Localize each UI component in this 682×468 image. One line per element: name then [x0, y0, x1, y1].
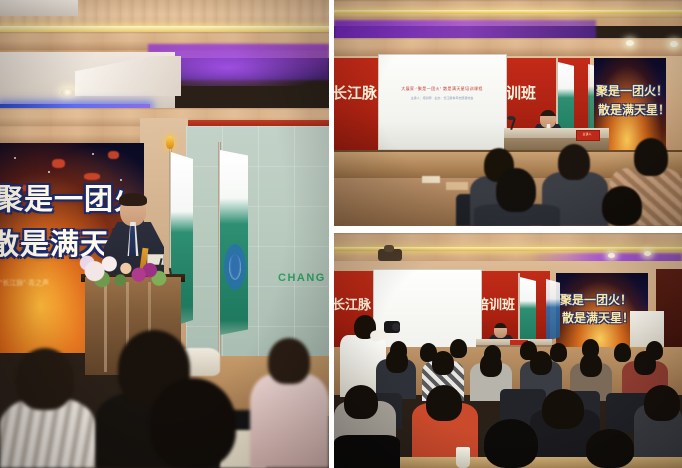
- br-aud-near-1: [334, 435, 400, 468]
- br-downlight-1-icon: [608, 253, 615, 258]
- br-projector-mount: [384, 245, 394, 252]
- banner-line-1: 聚是一团火！: [0, 183, 124, 217]
- photo-bottom-right-room[interactable]: 长江脉 培训班 聚是一团火！ 散是满天星！: [334, 233, 682, 468]
- tr-audience-2-head: [496, 168, 536, 212]
- wall-tile-grid: [186, 126, 329, 370]
- audience-4-head: [268, 338, 310, 384]
- br-aud-r2-4: [530, 351, 552, 375]
- tr-screen-title: 大展家·“聚是一团火” 散是满天星培训课程: [390, 86, 494, 95]
- flag-finial-icon: [166, 136, 174, 149]
- br-aud-r2-1: [386, 349, 408, 373]
- br-aud-r3-1: [344, 385, 378, 419]
- br-aud-r2-5: [580, 353, 602, 377]
- br-downlight-2-icon: [644, 251, 651, 256]
- tr-screen-subtitle: 主讲人：培训师 · 主办：长江脉青年志愿者协会: [390, 96, 494, 103]
- audience-3-head: [150, 378, 236, 468]
- tr-name-plate-text: 主讲人: [577, 131, 597, 138]
- br-aud-r3-4: [644, 385, 680, 421]
- podium-groove-1: [104, 282, 107, 372]
- collage-gutter-horizontal: [334, 226, 682, 233]
- paper-cup: [456, 447, 470, 468]
- br-aud-r1-6: [550, 343, 567, 362]
- tr-fire-banner-line-2: 散是满天星！: [598, 103, 668, 118]
- br-aud-r1-8: [614, 343, 631, 362]
- br-aud-r2-6: [634, 351, 656, 375]
- tr-downlight-2-icon: [670, 41, 678, 47]
- collage-column-right: 长江脉 培训班 大展家·“聚是一团火” 散是满天星培训课程 主讲人：培训师 · …: [334, 0, 682, 468]
- collage-column-left: CHANG 聚是一团火！ 散是满天星 “长江脉”·青之声: [0, 0, 329, 468]
- photo-left-speaker[interactable]: CHANG 聚是一团火！ 散是满天星 “长江脉”·青之声: [0, 0, 329, 468]
- br-aud-r1-3: [450, 339, 467, 358]
- tr-red-banner-text-left: 长江脉: [334, 85, 380, 103]
- br-desk-front: [396, 457, 682, 468]
- br-flag-white-blue: [546, 279, 560, 341]
- br-lecturer-head: [494, 323, 507, 338]
- br-aud-r2-3: [480, 353, 502, 377]
- tr-paper-2: [446, 182, 468, 190]
- flag-white-green-2: [220, 150, 248, 335]
- audience-1-head: [16, 348, 74, 410]
- br-flag-pole: [518, 273, 520, 341]
- br-aud-r2-2: [432, 351, 454, 375]
- ceiling-beam-white: [0, 0, 78, 16]
- purple-glow: [160, 40, 329, 86]
- br-fire-banner-line-1: 聚是一团火！: [560, 293, 646, 308]
- flag-emblem-inner: [229, 252, 241, 280]
- downlight-icon: [61, 88, 74, 97]
- br-aud-near-2: [484, 419, 538, 468]
- photo-top-right-lecture[interactable]: 长江脉 培训班 大展家·“聚是一团火” 散是满天星培训课程 主讲人：培训师 · …: [334, 0, 682, 226]
- flower-arrangement: [78, 245, 170, 290]
- br-aud-r3-3: [542, 389, 584, 429]
- br-flag-white-green: [520, 277, 536, 343]
- tr-paper-1: [422, 176, 440, 183]
- tr-audience-3-head: [558, 144, 590, 180]
- tr-fire-banner-line-1: 聚是一团火！: [596, 84, 666, 99]
- camera-lens-icon: [392, 323, 400, 331]
- tr-yellow-led-strip-icon: [334, 10, 682, 14]
- tr-microphone-head: [507, 116, 515, 120]
- br-aud-near-3: [586, 429, 634, 468]
- br-aud-r3-2: [426, 385, 462, 421]
- photo-collage: CHANG 聚是一团火！ 散是满天星 “长江脉”·青之声: [0, 0, 682, 468]
- audience-4-body: [250, 374, 329, 468]
- br-red-banner-text-left: 长江脉: [334, 297, 376, 313]
- wall-logo-text: CHANG: [278, 272, 329, 286]
- tr-downlight-1-icon: [626, 40, 634, 46]
- speaker-hair: [119, 193, 147, 206]
- tr-audience-4-head: [634, 138, 668, 176]
- tr-audience-5-head: [602, 186, 642, 226]
